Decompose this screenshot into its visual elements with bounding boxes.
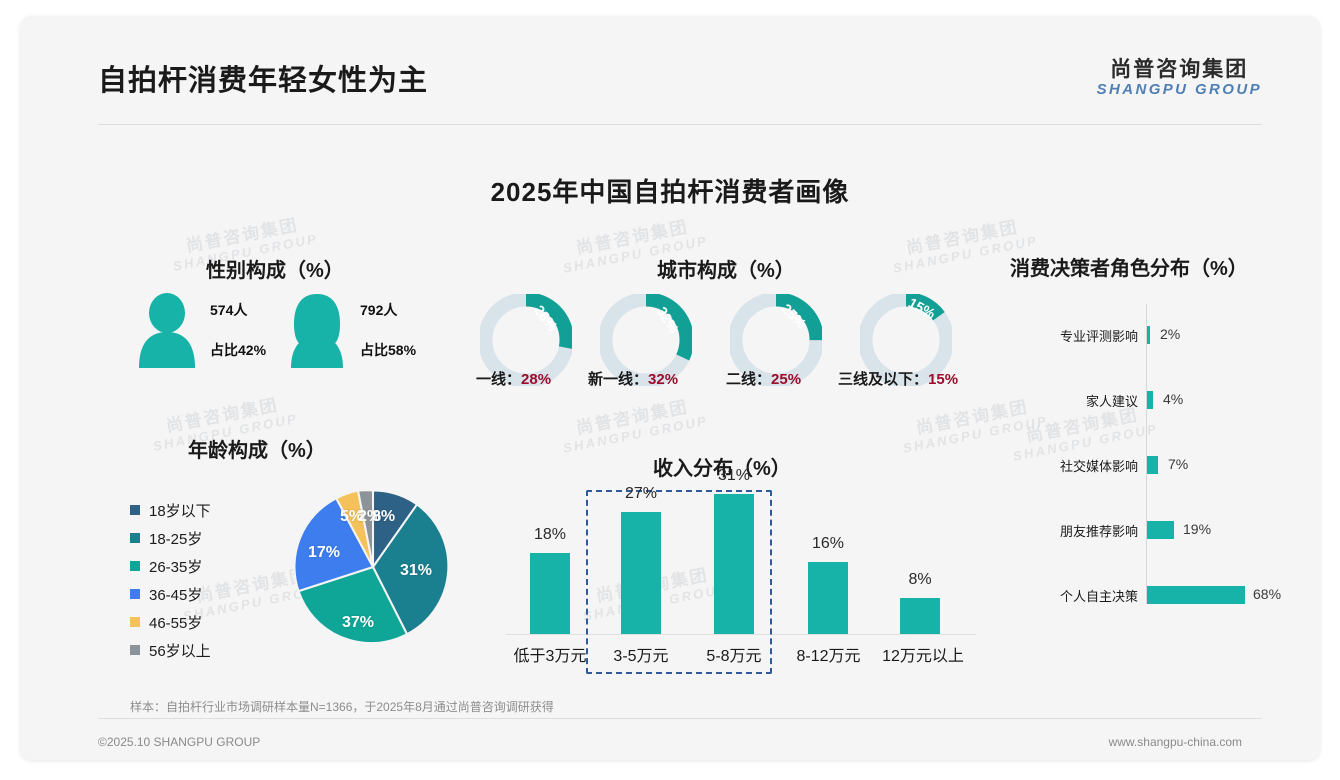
income-value-5to8w: 31% bbox=[689, 467, 779, 485]
decision-row: 社交媒体影响 7% bbox=[1008, 452, 1300, 478]
income-distribution-section: 收入分布（%） 18% 低于3万元 27% 3-5万元 31% 5-8万元 16… bbox=[498, 452, 984, 682]
legend-swatch-icon bbox=[130, 533, 140, 543]
income-bar-5to8w bbox=[714, 494, 754, 634]
city-caption-tier1: 一线：28% bbox=[476, 368, 551, 389]
legend-label: 36-45岁 bbox=[149, 584, 202, 605]
city-section-title: 城市构成（%） bbox=[657, 254, 795, 283]
decision-role-section: 消费决策者角色分布（%） 专业评测影响 2% 家人建议 4% 社交媒体影响 7%… bbox=[1008, 252, 1300, 612]
city-caption-label: 三线及以下： bbox=[838, 371, 928, 388]
city-caption-tier2: 二线：25% bbox=[726, 368, 801, 389]
watermark: 尚普咨询集团 SHANGPU GROUP bbox=[558, 394, 709, 456]
decision-label-review: 专业评测影响 bbox=[1060, 326, 1138, 345]
city-caption-label: 一线： bbox=[476, 371, 521, 388]
decision-label-social: 社交媒体影响 bbox=[1060, 456, 1138, 475]
pie-value-18-25: 31% bbox=[400, 562, 432, 580]
female-avatar-icon bbox=[286, 292, 348, 368]
city-caption-value: 25% bbox=[771, 371, 801, 388]
income-value-over12w: 8% bbox=[875, 571, 965, 589]
income-category-over12w: 12万元以上 bbox=[863, 642, 983, 666]
male-count: 574人 bbox=[210, 300, 247, 320]
legend-swatch-icon bbox=[130, 645, 140, 655]
legend-swatch-icon bbox=[130, 589, 140, 599]
decision-bar-friend bbox=[1147, 521, 1174, 539]
slide-canvas: 自拍杆消费年轻女性为主 尚普咨询集团 SHANGPU GROUP 2025年中国… bbox=[20, 16, 1320, 760]
age-pie-chart: 31% 37% 17% 5% 2% 8% bbox=[288, 482, 458, 652]
footer-divider bbox=[98, 718, 1262, 719]
decision-label-friend: 朋友推荐影响 bbox=[1060, 521, 1138, 540]
legend-item: 46-55岁 bbox=[130, 608, 211, 636]
legend-swatch-icon bbox=[130, 561, 140, 571]
age-section-title: 年龄构成（%） bbox=[188, 434, 326, 463]
decision-row: 专业评测影响 2% bbox=[1008, 322, 1300, 348]
chart-main-title: 2025年中国自拍杆消费者画像 bbox=[20, 172, 1320, 209]
city-caption-tier3: 三线及以下：15% bbox=[838, 368, 958, 389]
decision-value-social: 7% bbox=[1168, 456, 1188, 472]
watermark-line1: 尚普咨询集团 bbox=[168, 212, 317, 259]
legend-swatch-icon bbox=[130, 617, 140, 627]
decision-row: 朋友推荐影响 19% bbox=[1008, 517, 1300, 543]
income-value-8to12w: 16% bbox=[783, 535, 873, 553]
income-value-3to5w: 27% bbox=[596, 485, 686, 503]
decision-value-family: 4% bbox=[1163, 391, 1183, 407]
age-legend: 18岁以下 18-25岁 26-35岁 36-45岁 46-55岁 56岁以上 bbox=[130, 496, 211, 664]
footer-website[interactable]: www.shangpu-china.com bbox=[1109, 735, 1242, 749]
city-caption-value: 28% bbox=[521, 371, 551, 388]
male-share: 占比42% bbox=[210, 340, 266, 360]
income-bar-over12w bbox=[900, 598, 940, 634]
decision-bar-social bbox=[1147, 456, 1158, 474]
sample-footnote: 样本：自拍杆行业市场调研样本量N=1366，于2025年8月通过尚普咨询调研获得 bbox=[130, 698, 554, 715]
decision-section-title: 消费决策者角色分布（%） bbox=[1010, 252, 1248, 281]
watermark-line1: 尚普咨询集团 bbox=[558, 394, 707, 441]
legend-swatch-icon bbox=[130, 505, 140, 515]
decision-value-friend: 19% bbox=[1183, 521, 1211, 537]
pie-value-26-35: 37% bbox=[342, 614, 374, 632]
gender-section-title: 性别构成（%） bbox=[206, 254, 344, 283]
watermark-line1: 尚普咨询集团 bbox=[148, 392, 297, 439]
female-share: 占比58% bbox=[360, 340, 416, 360]
logo-chinese-text: 尚普咨询集团 bbox=[1097, 58, 1262, 81]
legend-item: 26-35岁 bbox=[130, 552, 211, 580]
female-count: 792人 bbox=[360, 300, 397, 320]
legend-label: 26-35岁 bbox=[149, 556, 202, 577]
city-caption-value: 15% bbox=[928, 371, 958, 388]
legend-item: 36-45岁 bbox=[130, 580, 211, 608]
donut-center-hole bbox=[884, 318, 928, 362]
decision-label-self: 个人自主决策 bbox=[1060, 586, 1138, 605]
income-bar-8to12w bbox=[808, 562, 848, 634]
legend-label: 46-55岁 bbox=[149, 612, 202, 633]
footer-copyright: ©2025.10 SHANGPU GROUP bbox=[98, 735, 260, 749]
decision-bar-self bbox=[1147, 586, 1245, 604]
city-caption-label: 二线： bbox=[726, 371, 771, 388]
decision-bar-family bbox=[1147, 391, 1153, 409]
decision-bar-review bbox=[1147, 326, 1150, 344]
decision-row: 家人建议 4% bbox=[1008, 387, 1300, 413]
city-caption-label: 新一线： bbox=[588, 371, 648, 388]
decision-label-family: 家人建议 bbox=[1086, 391, 1138, 410]
decision-value-self: 68% bbox=[1253, 586, 1281, 602]
slide-header: 自拍杆消费年轻女性为主 尚普咨询集团 SHANGPU GROUP bbox=[20, 16, 1320, 122]
income-value-under3w: 18% bbox=[505, 526, 595, 544]
header-divider bbox=[98, 124, 1262, 125]
logo-english-text: SHANGPU GROUP bbox=[1097, 81, 1262, 99]
age-composition-section: 年龄构成（%） 18岁以下 18-25岁 26-35岁 36-45岁 46-55… bbox=[118, 434, 458, 684]
legend-item: 18岁以下 bbox=[130, 496, 211, 524]
income-bar-under3w bbox=[530, 553, 570, 634]
pie-value-36-45: 17% bbox=[308, 544, 340, 562]
decision-value-review: 2% bbox=[1160, 326, 1180, 342]
legend-label: 56岁以上 bbox=[149, 640, 211, 661]
male-avatar-icon bbox=[136, 292, 198, 368]
city-caption-newtier1: 新一线：32% bbox=[588, 368, 678, 389]
legend-label: 18岁以下 bbox=[149, 500, 211, 521]
legend-label: 18-25岁 bbox=[149, 528, 202, 549]
city-caption-value: 32% bbox=[648, 371, 678, 388]
watermark-line2: SHANGPU GROUP bbox=[562, 413, 710, 456]
income-bar-3to5w bbox=[621, 512, 661, 634]
decision-row: 个人自主决策 68% bbox=[1008, 582, 1300, 608]
legend-item: 56岁以上 bbox=[130, 636, 211, 664]
page-title: 自拍杆消费年轻女性为主 bbox=[98, 57, 428, 99]
brand-logo: 尚普咨询集团 SHANGPU GROUP bbox=[1097, 58, 1262, 99]
legend-item: 18-25岁 bbox=[130, 524, 211, 552]
pie-value-under18: 8% bbox=[372, 508, 395, 526]
gender-composition-section: 性别构成（%） 574人 占比42% 792人 占比58% bbox=[118, 254, 448, 374]
